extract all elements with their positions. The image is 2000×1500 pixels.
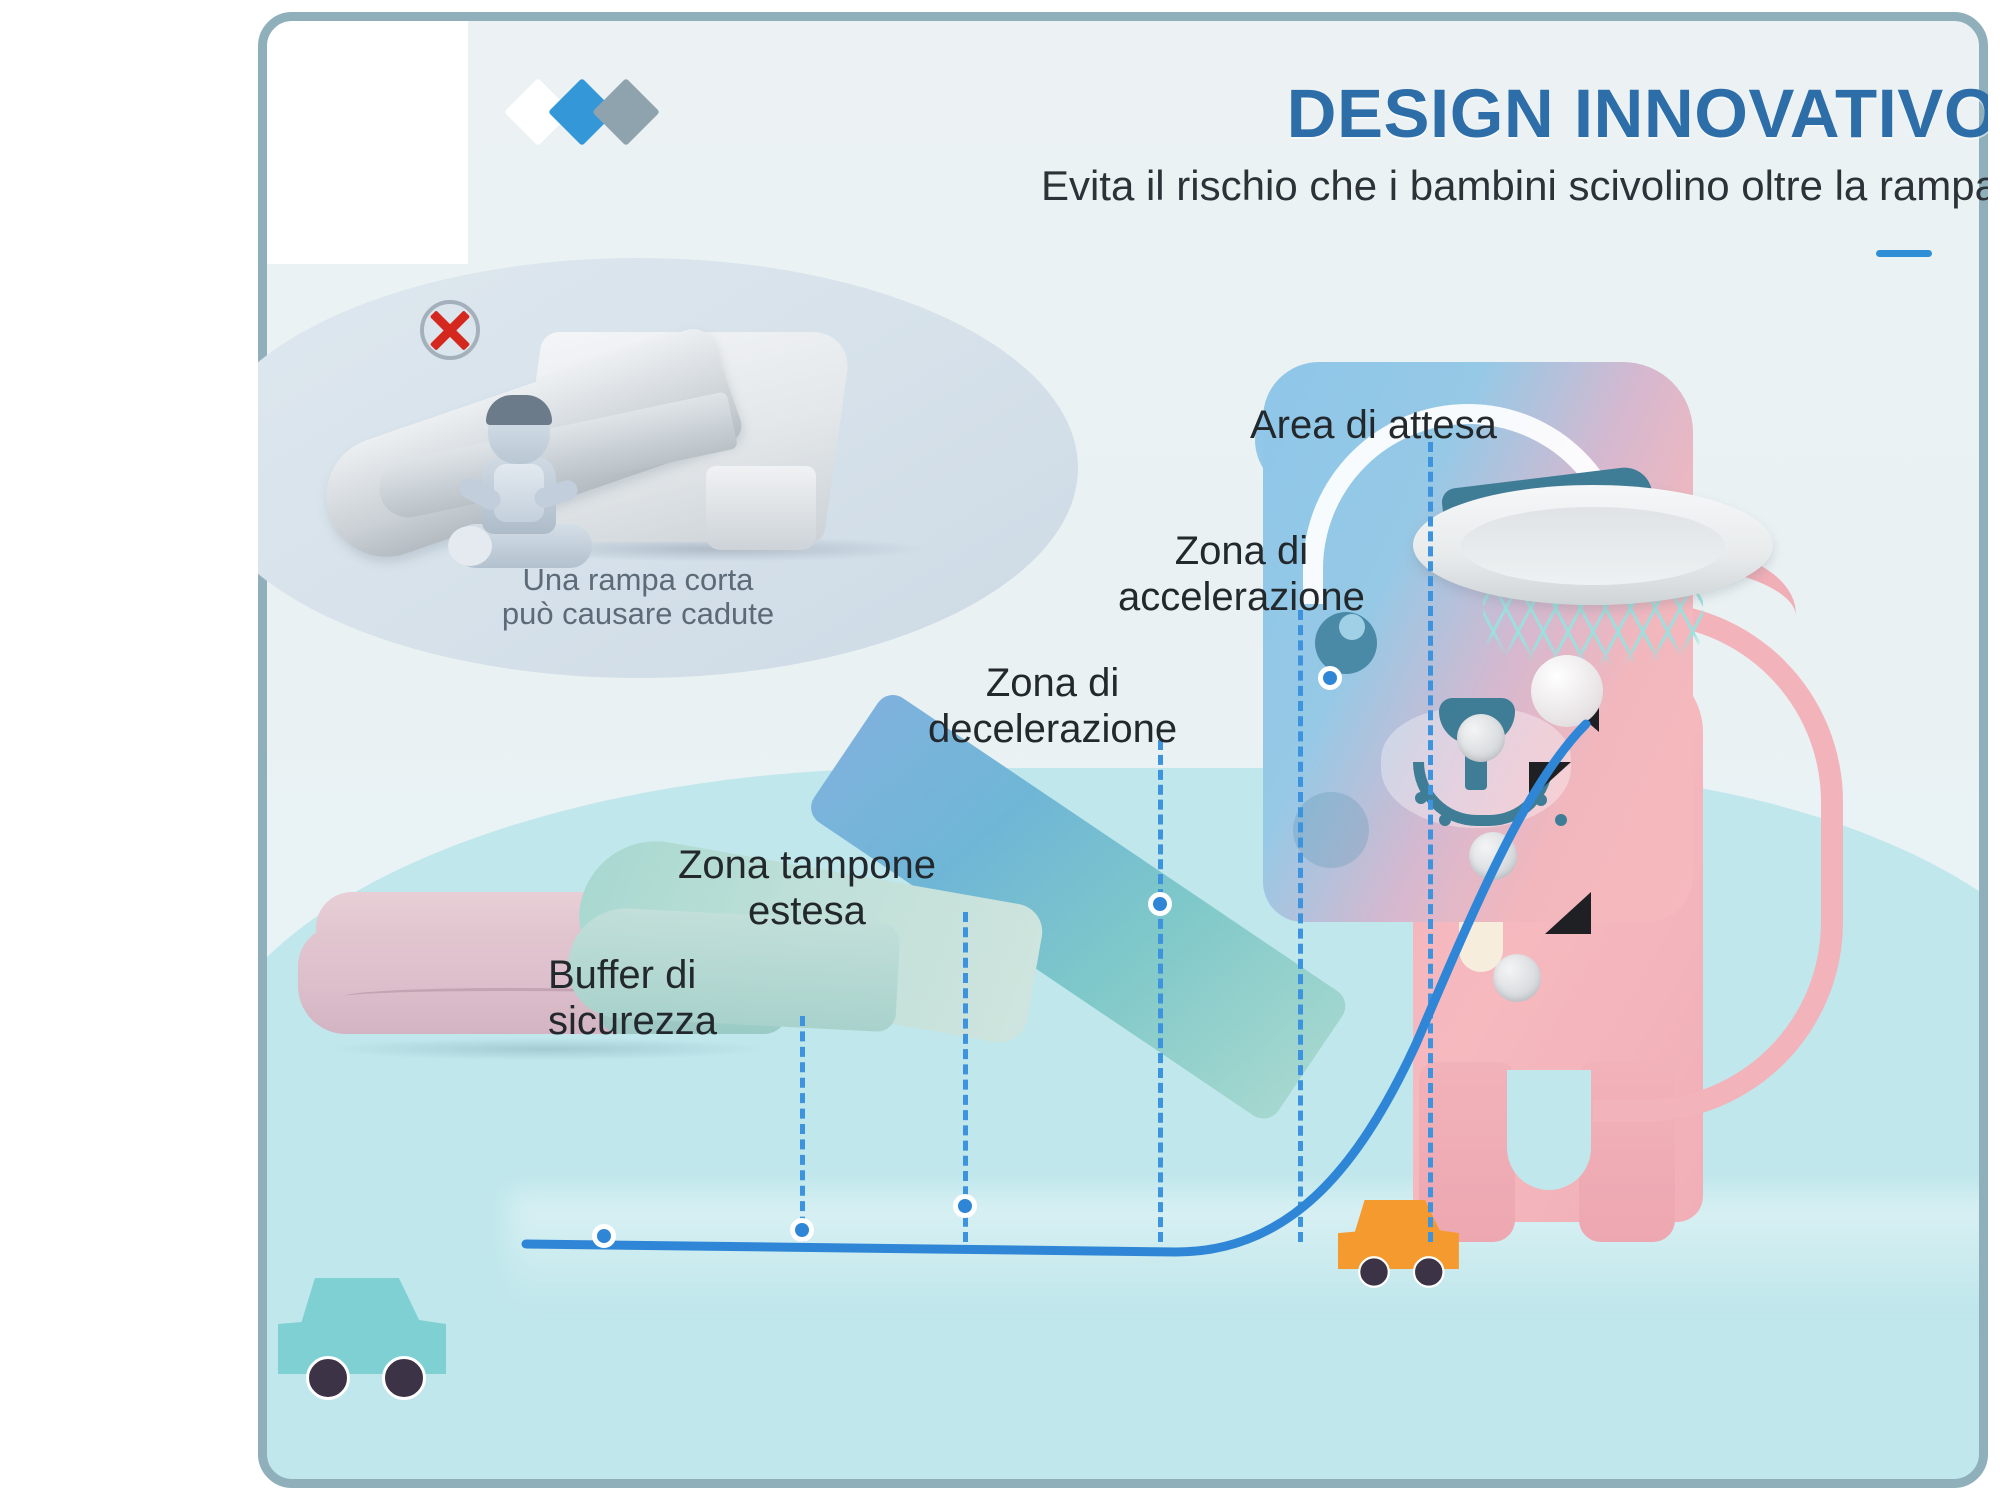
zone-label-attesa: Area di attesa [1250,402,1497,448]
warning-caption: Una rampa corta può causare cadute [258,563,1078,632]
page-subtitle: Evita il rischio che i bambini scivolino… [558,162,1988,210]
page-title: DESIGN INNOVATIVO [818,74,1988,153]
diamond-gray-icon [592,78,660,146]
accent-dash [1876,250,1932,257]
zone-label-attesa-line1: Area di attesa [1250,402,1497,448]
no-entry-x-icon [420,300,480,360]
tower-leg-gap [1507,1070,1591,1190]
guide-line-tampone [963,912,968,1242]
zone-label-decelerazione-line1: Zona di [928,660,1177,706]
zone-label-buffer-line2: sicurezza [548,998,717,1044]
basketball-hoop-icon [1413,467,1793,767]
zone-label-buffer: Buffer di sicurezza [548,952,717,1045]
short-ramp-foot [706,466,816,550]
zone-label-accelerazione-line2: accelerazione [1118,574,1365,620]
diamond-trio-icon [514,82,714,148]
warning-inset-panel: Una rampa corta può causare cadute [258,258,1078,678]
zone-label-buffer-line1: Buffer di [548,952,717,998]
toy-car-wheel [1358,1256,1390,1288]
warning-caption-line2: può causare cadute [258,597,1078,632]
zone-label-tampone: Zona tampone estesa [678,842,936,935]
product-infographic-card: DESIGN INNOVATIVO Evita il rischio che i… [258,12,1988,1488]
zone-label-decelerazione: Zona di decelerazione [928,660,1177,753]
zone-label-tampone-line2: estesa [678,888,936,934]
guide-line-accelerazione [1298,610,1303,1242]
zone-label-decelerazione-line2: decelerazione [928,706,1177,752]
bear-freckle [1555,814,1567,826]
toy-car-orange [1338,1200,1459,1288]
guide-line-attesa [1428,442,1433,1242]
toy-car-teal [278,1278,446,1400]
tower-button [1493,954,1541,1002]
fallen-child-figure [446,398,596,568]
tower-spot [1545,892,1591,934]
bear-freckle [1439,814,1451,826]
tower-button [1469,832,1517,880]
zone-label-accelerazione-line1: Zona di [1118,528,1365,574]
measurement-dot-icon [592,1224,616,1248]
toy-car-wheel [382,1356,426,1400]
infographic-canvas: DESIGN INNOVATIVO Evita il rischio che i… [0,0,2000,1500]
guide-line-buffer [800,1016,805,1242]
child-hair [486,395,552,425]
warning-caption-line1: Una rampa corta [258,563,1078,598]
bear-freckle [1415,792,1427,804]
measurement-dot-icon [1318,666,1342,690]
hoop-rim-inner [1461,507,1725,585]
measurement-dot-icon [1148,892,1172,916]
zone-label-tampone-line1: Zona tampone [678,842,936,888]
toy-car-wheel [306,1356,350,1400]
child-foot [448,526,492,566]
tower-spot [1529,762,1571,800]
bear-paw-print [1293,792,1369,868]
toy-car-wheel [1413,1256,1445,1288]
measurement-dot-icon [953,1194,977,1218]
guide-line-decelerazione [1158,740,1163,1242]
zone-label-accelerazione: Zona di accelerazione [1118,528,1365,621]
basketball-ball-icon [1531,655,1603,727]
measurement-dot-icon [790,1218,814,1242]
